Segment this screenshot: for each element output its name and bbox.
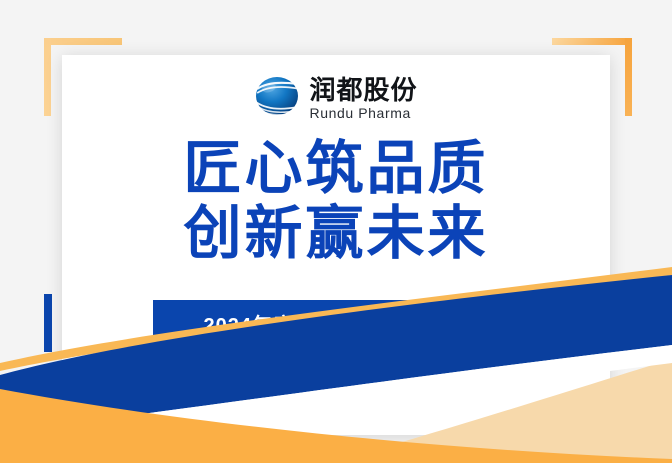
poster-canvas: 润都股份 Rundu Pharma 匠心筑品质 创新赢未来 2024年度QCC成… <box>0 0 672 463</box>
bracket-arm-horizontal <box>44 38 122 45</box>
brand-name-cn: 润都股份 <box>309 77 417 103</box>
bracket-arm-vertical <box>44 38 51 116</box>
left-accent-bar <box>44 294 52 352</box>
bracket-arm-vertical <box>625 38 632 116</box>
subtitle-banner: 2024年度QCC成果发表大赛 <box>153 300 518 346</box>
brand-name-en: Rundu Pharma <box>309 106 410 120</box>
brand-logo: 润都股份 Rundu Pharma <box>62 75 610 122</box>
headline-line-2: 创新赢未来 <box>62 202 610 267</box>
content-card: 润都股份 Rundu Pharma 匠心筑品质 创新赢未来 2024年度QCC成… <box>62 55 610 435</box>
bracket-arm-horizontal <box>552 38 632 45</box>
headline-line-1: 匠心筑品质 <box>62 137 610 202</box>
subtitle-text: 2024年度QCC成果发表大赛 <box>204 309 468 338</box>
logo-wordmark: 润都股份 Rundu Pharma <box>309 77 417 120</box>
logo-row: 润都股份 Rundu Pharma <box>254 75 417 122</box>
page-title: 匠心筑品质 创新赢未来 <box>62 137 610 267</box>
rundu-globe-logo-icon <box>254 75 300 122</box>
